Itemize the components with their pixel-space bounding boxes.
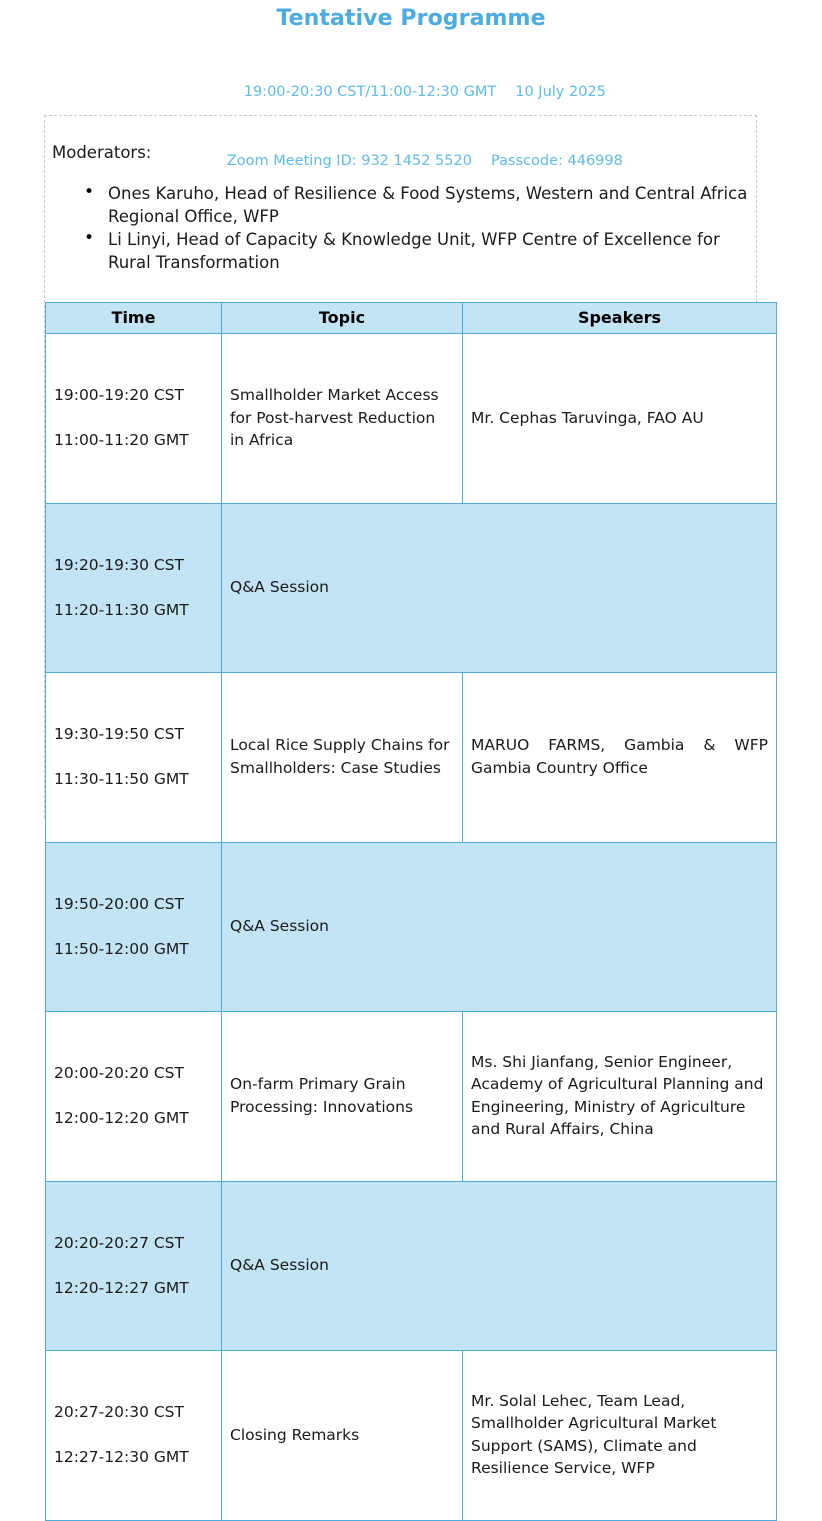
time-gmt: 11:30-11:50 GMT <box>54 768 213 791</box>
cell-topic: Local Rice Supply Chains for Smallholder… <box>222 673 463 843</box>
event-date: 10 July 2025 <box>515 84 606 100</box>
cell-time: 19:30-19:50 CST 11:30-11:50 GMT <box>46 673 222 843</box>
list-item: Li Linyi, Head of Capacity & Knowledge U… <box>52 228 752 274</box>
time-gmt: 12:27-12:30 GMT <box>54 1446 213 1469</box>
column-header-topic: Topic <box>222 303 463 334</box>
moderators-heading: Moderators: <box>52 140 752 166</box>
cell-speakers: Mr. Cephas Taruvinga, FAO AU <box>463 334 777 504</box>
cell-topic: On-farm Primary Grain Processing: Innova… <box>222 1012 463 1182</box>
cell-speakers: MARUO FARMS, Gambia & WFP Gambia Country… <box>463 673 777 843</box>
programme-table: Time Topic Speakers 19:00-19:20 CST 11:0… <box>45 302 777 1521</box>
cell-time: 20:20-20:27 CST 12:20-12:27 GMT <box>46 1181 222 1351</box>
time-gmt: 12:00-12:20 GMT <box>54 1107 213 1130</box>
table-row: 19:00-19:20 CST 11:00-11:20 GMT Smallhol… <box>46 334 777 504</box>
time-gmt: 11:50-12:00 GMT <box>54 938 213 961</box>
programme-page: Tentative Programme 19:00-20:30 CST/11:0… <box>0 0 822 828</box>
time-gmt: 11:20-11:30 GMT <box>54 599 213 622</box>
cell-topic: Smallholder Market Access for Post-harve… <box>222 334 463 504</box>
table-row: 19:20-19:30 CST 11:20-11:30 GMT Q&A Sess… <box>46 503 777 673</box>
column-header-time: Time <box>46 303 222 334</box>
cell-time: 19:20-19:30 CST 11:20-11:30 GMT <box>46 503 222 673</box>
cell-topic: Q&A Session <box>222 842 777 1012</box>
cell-speakers: Mr. Solal Lehec, Team Lead, Smallholder … <box>463 1351 777 1521</box>
time-cst: 19:00-19:20 CST <box>54 384 213 407</box>
time-cst: 19:20-19:30 CST <box>54 554 213 577</box>
time-cst: 19:30-19:50 CST <box>54 723 213 746</box>
cell-time: 19:00-19:20 CST 11:00-11:20 GMT <box>46 334 222 504</box>
time-cst: 20:20-20:27 CST <box>54 1232 213 1255</box>
list-item: Ones Karuho, Head of Resilience & Food S… <box>52 182 752 228</box>
cell-time: 19:50-20:00 CST 11:50-12:00 GMT <box>46 842 222 1012</box>
cell-time: 20:00-20:20 CST 12:00-12:20 GMT <box>46 1012 222 1182</box>
table-row: 19:50-20:00 CST 11:50-12:00 GMT Q&A Sess… <box>46 842 777 1012</box>
time-cst: 20:27-20:30 CST <box>54 1401 213 1424</box>
event-time-date-line: 19:00-20:30 CST/11:00-12:30 GMT10 July 2… <box>0 58 822 127</box>
table-row: 19:30-19:50 CST 11:30-11:50 GMT Local Ri… <box>46 673 777 843</box>
cell-topic: Q&A Session <box>222 1181 777 1351</box>
moderators-list: Ones Karuho, Head of Resilience & Food S… <box>52 182 752 274</box>
cell-topic: Q&A Session <box>222 503 777 673</box>
time-cst: 20:00-20:20 CST <box>54 1062 213 1085</box>
table-row: 20:00-20:20 CST 12:00-12:20 GMT On-farm … <box>46 1012 777 1182</box>
column-header-speakers: Speakers <box>463 303 777 334</box>
cell-topic: Closing Remarks <box>222 1351 463 1521</box>
time-cst: 19:50-20:00 CST <box>54 893 213 916</box>
cell-time: 20:27-20:30 CST 12:27-12:30 GMT <box>46 1351 222 1521</box>
table-row: 20:27-20:30 CST 12:27-12:30 GMT Closing … <box>46 1351 777 1521</box>
moderators-section: Moderators: Ones Karuho, Head of Resilie… <box>52 128 752 274</box>
time-gmt: 12:20-12:27 GMT <box>54 1277 213 1300</box>
page-title: Tentative Programme <box>0 6 822 31</box>
event-time: 19:00-20:30 CST/11:00-12:30 GMT <box>244 84 497 100</box>
table-header-row: Time Topic Speakers <box>46 303 777 334</box>
table-row: 20:20-20:27 CST 12:20-12:27 GMT Q&A Sess… <box>46 1181 777 1351</box>
time-gmt: 11:00-11:20 GMT <box>54 429 213 452</box>
cell-speakers: Ms. Shi Jianfang, Senior Engineer, Acade… <box>463 1012 777 1182</box>
